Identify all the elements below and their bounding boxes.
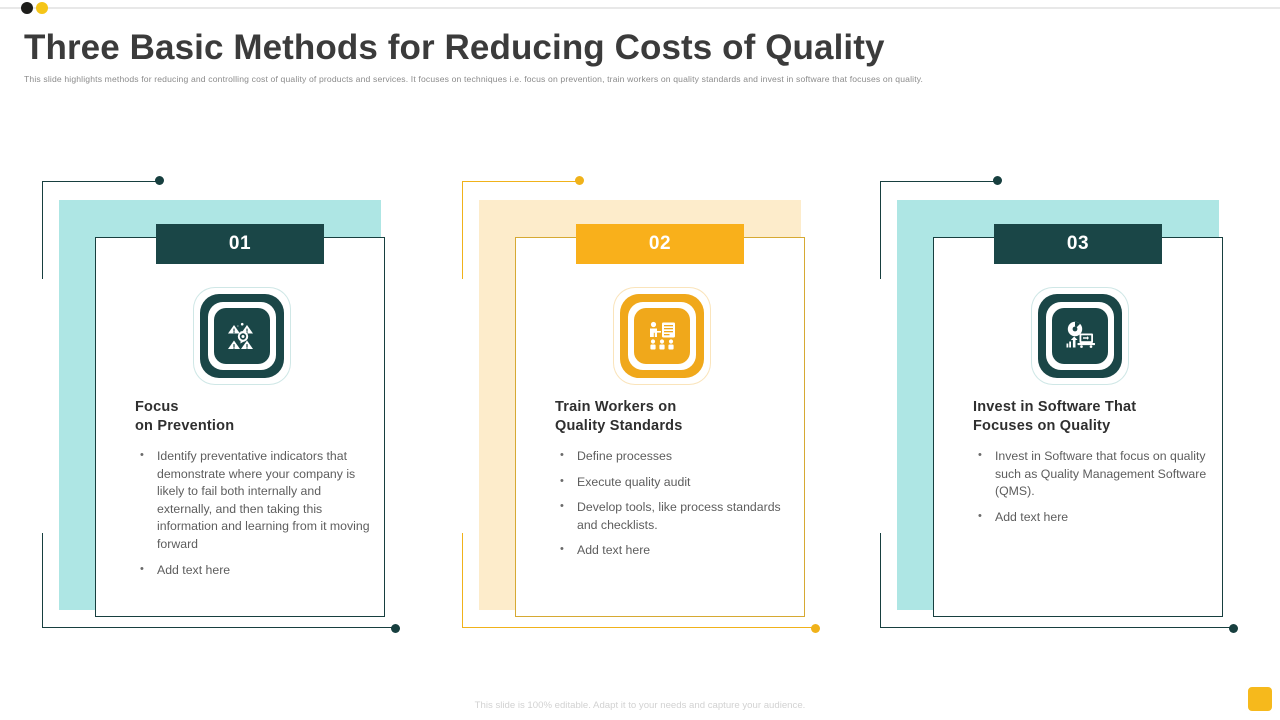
bracket-dot-bottom xyxy=(391,624,400,633)
yellow-dot-icon xyxy=(36,2,48,14)
card-column-02: 02 xyxy=(458,178,818,633)
list-item: Define processes xyxy=(555,448,795,466)
card-heading-line: Invest in Software That xyxy=(973,398,1223,417)
card-number-ribbon: 01 xyxy=(156,224,324,264)
software-investment-icon xyxy=(1031,287,1129,385)
list-item: Execute quality audit xyxy=(555,474,795,492)
slide-canvas: Three Basic Methods for Reducing Costs o… xyxy=(0,0,1280,720)
card-bullet-list: Identify preventative indicators that de… xyxy=(135,448,375,587)
card-column-03: 03 xyxy=(876,178,1236,633)
list-item: Add text here xyxy=(135,562,375,580)
card-bullet-list: Define processes Execute quality audit D… xyxy=(555,448,795,568)
bracket-dot-top xyxy=(155,176,164,185)
bracket-dot-bottom xyxy=(811,624,820,633)
card-number-label: 02 xyxy=(649,233,671,255)
footer-note: This slide is 100% editable. Adapt it to… xyxy=(0,700,1280,711)
list-item: Invest in Software that focus on quality… xyxy=(973,448,1213,501)
card-number-ribbon: 02 xyxy=(576,224,744,264)
bracket-dot-top xyxy=(575,176,584,185)
card-column-01: 01 xyxy=(38,178,398,633)
card-heading-line: Quality Standards xyxy=(555,417,805,436)
card-number-ribbon: 03 xyxy=(994,224,1162,264)
quality-prevention-icon xyxy=(193,287,291,385)
card-heading: Train Workers on Quality Standards xyxy=(555,398,805,436)
card-heading: Focus on Prevention xyxy=(135,398,385,436)
list-item: Develop tools, like process standards an… xyxy=(555,499,795,534)
yellow-corner-chip-icon xyxy=(1248,687,1272,711)
list-item: Identify preventative indicators that de… xyxy=(135,448,375,554)
card-outer-panel: 02 xyxy=(479,200,801,610)
page-subtitle: This slide highlights methods for reduci… xyxy=(24,74,1144,84)
list-item: Add text here xyxy=(555,542,795,560)
page-title: Three Basic Methods for Reducing Costs o… xyxy=(24,28,885,68)
card-outer-panel: 01 xyxy=(59,200,381,610)
bracket-dot-top xyxy=(993,176,1002,185)
card-heading-line: Train Workers on xyxy=(555,398,805,417)
window-top-rule xyxy=(0,7,1280,9)
list-item: Add text here xyxy=(973,509,1213,527)
card-outer-panel: 03 xyxy=(897,200,1219,610)
card-heading-line: on Prevention xyxy=(135,417,385,436)
card-heading-line: Focuses on Quality xyxy=(973,417,1223,436)
black-dot-icon xyxy=(21,2,33,14)
training-presentation-icon xyxy=(613,287,711,385)
bracket-dot-bottom xyxy=(1229,624,1238,633)
card-heading-line: Focus xyxy=(135,398,385,417)
card-number-label: 03 xyxy=(1067,233,1089,255)
card-number-label: 01 xyxy=(229,233,251,255)
card-heading: Invest in Software That Focuses on Quali… xyxy=(973,398,1223,436)
card-bullet-list: Invest in Software that focus on quality… xyxy=(973,448,1213,534)
